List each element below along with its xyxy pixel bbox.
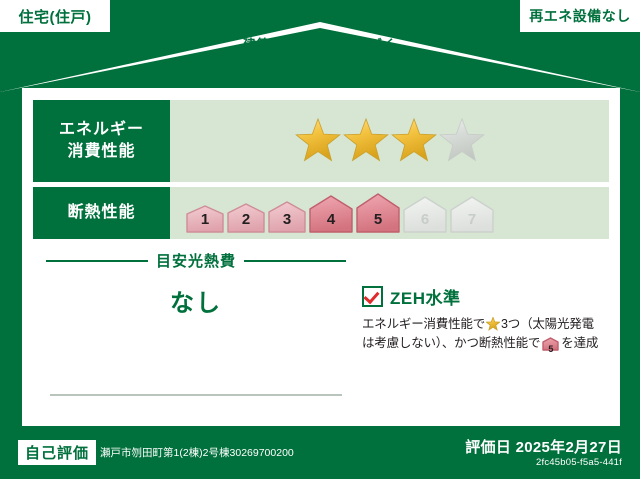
label-card: エネルギー 消費性能 断熱性能 1234567 目安光熱費 なし xyxy=(22,88,620,426)
zeh-desc-part1: エネルギー消費性能で xyxy=(362,317,485,331)
row-energy-label-line1: エネルギー xyxy=(59,119,144,141)
row-insulation-performance: 断熱性能 1234567 xyxy=(33,187,609,239)
zeh-heading: ZEH水準 xyxy=(362,284,612,309)
zeh-description: エネルギー消費性能で3つ（太陽光発電は考慮しない）、かつ断熱性能で5を達成 xyxy=(362,315,612,358)
insulation-grade-7: 7 xyxy=(450,196,494,233)
row-energy-performance: エネルギー 消費性能 xyxy=(33,100,609,182)
badge-renewable-energy: 再エネ設備なし xyxy=(520,0,640,32)
utility-cost-heading-text: 目安光熱費 xyxy=(156,250,236,271)
insulation-grade-6: 6 xyxy=(403,196,447,233)
inline-house-icon: 5 xyxy=(542,337,559,357)
insulation-grade-5: 5 xyxy=(356,193,400,233)
insulation-grade-2: 2 xyxy=(227,203,265,233)
row-insulation-label: 断熱性能 xyxy=(33,187,170,239)
evaluation-date: 評価日 2025年2月27日 xyxy=(465,436,622,457)
zeh-block: ZEH水準 エネルギー消費性能で3つ（太陽光発電は考慮しない）、かつ断熱性能で5… xyxy=(362,284,612,358)
utility-cost-heading: 目安光熱費 xyxy=(46,250,346,271)
zeh-desc-star-count: 3つ（太陽光発電 xyxy=(501,317,594,331)
self-evaluation-badge: 自己評価 xyxy=(18,440,96,465)
insulation-grade-3-number: 3 xyxy=(268,211,306,228)
card-divider xyxy=(50,394,342,396)
zeh-desc-part3: を達成 xyxy=(561,336,598,350)
utility-cost-rule-left xyxy=(46,260,148,262)
utility-cost-rule-right xyxy=(244,260,346,262)
insulation-grade-2-number: 2 xyxy=(227,211,265,228)
row-energy-body xyxy=(170,100,609,182)
evaluation-id: 2fc45b05-f5a5-441f xyxy=(536,457,622,468)
star-3-filled-icon xyxy=(391,118,437,164)
energy-label: 住宅(住戸) 再エネ設備なし 建築物省エネ法に基づく 省エネ性能ラベル エネルギ… xyxy=(0,0,640,479)
zeh-desc-part2: は考慮しない）、かつ断熱性能で xyxy=(362,336,540,350)
star-4-empty-icon xyxy=(439,118,485,164)
insulation-grade-1: 1 xyxy=(186,205,224,233)
insulation-grade-6-number: 6 xyxy=(403,211,447,228)
zeh-title: ZEH水準 xyxy=(390,284,461,309)
insulation-grade-4: 4 xyxy=(309,195,353,233)
star-rating xyxy=(295,118,485,164)
inline-star-icon xyxy=(486,317,500,331)
insulation-grade-3: 3 xyxy=(268,201,306,233)
row-insulation-label-line1: 断熱性能 xyxy=(67,202,135,224)
label-footer: 自己評価 瀬戸市刎田町第1(2棟)2号棟30269700200 評価日 2025… xyxy=(0,426,640,479)
insulation-grade-1-number: 1 xyxy=(186,211,224,228)
insulation-grade-scale: 1234567 xyxy=(186,193,494,233)
row-energy-label-line2: 消費性能 xyxy=(67,141,135,163)
roof-inner-shape xyxy=(0,22,640,92)
row-energy-label: エネルギー 消費性能 xyxy=(33,100,170,182)
insulation-grade-7-number: 7 xyxy=(450,211,494,228)
property-address: 瀬戸市刎田町第1(2棟)2号棟30269700200 xyxy=(100,445,294,460)
star-1-filled-icon xyxy=(295,118,341,164)
badge-building-type: 住宅(住戸) xyxy=(0,0,110,32)
insulation-grade-5-number: 5 xyxy=(356,211,400,228)
insulation-grade-4-number: 4 xyxy=(309,211,353,228)
inline-house-grade: 5 xyxy=(542,343,559,357)
star-2-filled-icon xyxy=(343,118,389,164)
row-insulation-body: 1234567 xyxy=(170,187,609,239)
utility-cost-value: なし xyxy=(46,283,346,318)
zeh-checkbox-icon xyxy=(362,286,383,307)
